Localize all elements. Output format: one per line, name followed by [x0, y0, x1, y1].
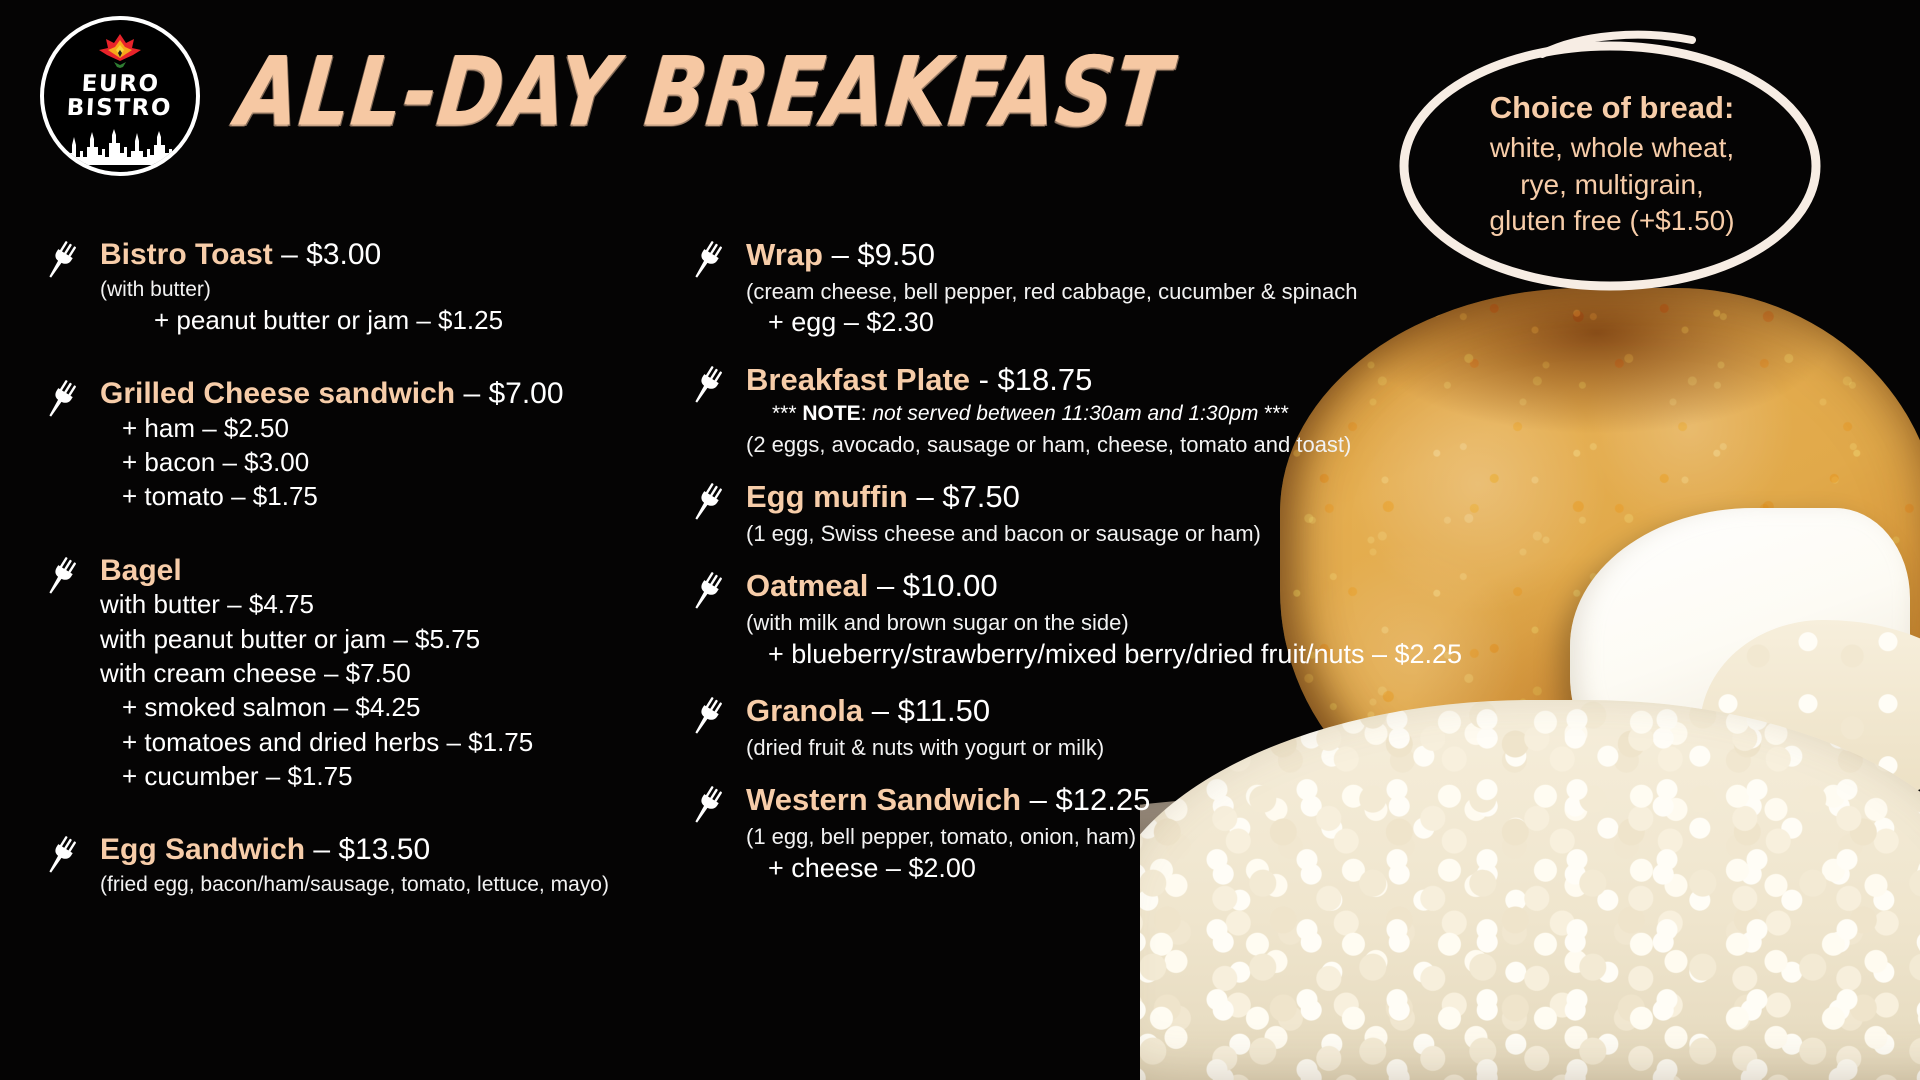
- menu-item-heading: Egg muffin – $7.50: [746, 480, 1440, 515]
- menu-item-price: – $13.50: [305, 833, 430, 866]
- menu-item-price: – $7.00: [455, 377, 563, 410]
- menu-column-left: Bistro Toast – $3.00(with butter)+ peanu…: [34, 238, 714, 904]
- menu-item-name: Egg muffin: [746, 479, 908, 514]
- callout-title: Choice of bread:: [1392, 88, 1832, 128]
- menu-item-name: Bistro Toast: [100, 238, 273, 271]
- menu-item-addon: + blueberry/strawberry/mixed berry/dried…: [746, 637, 1440, 673]
- fork-icon: [688, 365, 728, 414]
- logo-line-2: BISTRO: [43, 96, 196, 120]
- menu-item-name: Breakfast Plate: [746, 362, 979, 397]
- menu-item-addon: with butter – $4.75: [100, 587, 714, 621]
- fork-icon: [688, 482, 728, 531]
- menu-item-price: – $11.50: [863, 693, 990, 728]
- menu-item-addon: with cream cheese – $7.50: [100, 656, 714, 690]
- menu-item-addon: + smoked salmon – $4.25: [100, 690, 714, 724]
- menu-item-description: (2 eggs, avocado, sausage or ham, cheese…: [746, 431, 1440, 459]
- menu-item-addon: + peanut butter or jam – $1.25: [100, 303, 714, 337]
- menu-item-name: Bagel: [100, 554, 182, 587]
- fork-icon: [688, 240, 728, 289]
- menu-item-heading: Breakfast Plate - $18.75: [746, 363, 1440, 398]
- menu-item-name: Egg Sandwich: [100, 833, 305, 866]
- menu-item-heading: Egg Sandwich – $13.50: [100, 833, 714, 867]
- menu-board: EURO BISTRO ALL-DAY BREAKFAST Choice of …: [0, 0, 1920, 1080]
- menu-item-name: Oatmeal: [746, 568, 868, 603]
- fork-icon: [688, 696, 728, 740]
- menu-item-addon: with peanut butter or jam – $5.75: [100, 622, 714, 656]
- fork-icon: [42, 240, 82, 289]
- menu-item-addon: + egg – $2.30: [746, 305, 1440, 341]
- menu-item-addon: + tomato – $1.75: [100, 479, 714, 513]
- logo-line-1: EURO: [44, 72, 197, 96]
- menu-column-right: Wrap – $9.50(cream cheese, bell pepper, …: [680, 238, 1440, 892]
- fork-icon: [688, 240, 728, 284]
- menu-item-addon: + tomatoes and dried herbs – $1.75: [100, 725, 714, 759]
- menu-item-name: Grilled Cheese sandwich: [100, 377, 455, 410]
- callout-line: white, whole wheat,: [1392, 130, 1832, 166]
- menu-item: Wrap – $9.50(cream cheese, bell pepper, …: [680, 238, 1440, 341]
- menu-item-addon: + bacon – $3.00: [100, 445, 714, 479]
- logo-wordmark: EURO BISTRO: [43, 72, 198, 121]
- fork-icon: [688, 571, 728, 615]
- menu-item-name: Granola: [746, 693, 863, 728]
- menu-item-addon: + cheese – $2.00: [746, 851, 1440, 887]
- fork-icon: [688, 785, 728, 829]
- menu-item: Egg Sandwich – $13.50(fried egg, bacon/h…: [34, 833, 714, 898]
- menu-item-price: – $12.25: [1021, 782, 1150, 817]
- fork-icon: [42, 835, 82, 884]
- menu-item: Granola – $11.50(dried fruit & nuts with…: [680, 694, 1440, 761]
- menu-item-heading: Granola – $11.50: [746, 694, 1440, 729]
- menu-item: Oatmeal – $10.00(with milk and brown sug…: [680, 569, 1440, 672]
- fork-icon: [688, 696, 728, 745]
- fork-icon: [688, 571, 728, 620]
- menu-item-description: (1 egg, Swiss cheese and bacon or sausag…: [746, 520, 1440, 548]
- menu-item-heading: Bagel: [100, 554, 714, 588]
- menu-item-name: Wrap: [746, 237, 823, 272]
- fork-icon: [42, 835, 82, 879]
- fork-icon: [42, 556, 82, 605]
- menu-item-description: (cream cheese, bell pepper, red cabbage,…: [746, 278, 1440, 306]
- fork-icon: [688, 785, 728, 834]
- fork-icon: [42, 240, 82, 284]
- fork-icon: [42, 379, 82, 428]
- page-title: ALL-DAY BREAKFAST: [232, 38, 1176, 148]
- menu-item-heading: Bistro Toast – $3.00: [100, 238, 714, 272]
- fork-icon: [688, 365, 728, 409]
- menu-item-name: Western Sandwich: [746, 782, 1021, 817]
- menu-item-description: (dried fruit & nuts with yogurt or milk): [746, 734, 1440, 762]
- menu-item-price: – $3.00: [273, 238, 381, 271]
- menu-item-price: - $18.75: [979, 362, 1093, 397]
- callout-line: rye, multigrain,: [1392, 167, 1832, 203]
- menu-item-description: (with milk and brown sugar on the side): [746, 609, 1440, 637]
- menu-item-price: – $9.50: [823, 237, 935, 272]
- fork-icon: [42, 556, 82, 600]
- menu-item-description: (1 egg, bell pepper, tomato, onion, ham): [746, 823, 1440, 851]
- callout-line: gluten free (+$1.50): [1392, 203, 1832, 239]
- menu-item: Bagelwith butter – $4.75with peanut butt…: [34, 554, 714, 793]
- menu-item-note: *** NOTE: not served between 11:30am and…: [746, 402, 1440, 426]
- fork-icon: [42, 379, 82, 423]
- menu-item-heading: Oatmeal – $10.00: [746, 569, 1440, 604]
- city-skyline-icon: [51, 127, 189, 170]
- menu-item: Grilled Cheese sandwich – $7.00+ ham – $…: [34, 377, 714, 514]
- menu-item: Breakfast Plate - $18.75*** NOTE: not se…: [680, 363, 1440, 458]
- choice-of-bread-callout: Choice of bread: white, whole wheat, rye…: [1392, 20, 1832, 300]
- menu-item-description: (with butter): [100, 277, 714, 303]
- menu-item: Bistro Toast – $3.00(with butter)+ peanu…: [34, 238, 714, 337]
- menu-item-heading: Western Sandwich – $12.25: [746, 783, 1440, 818]
- menu-item-heading: Grilled Cheese sandwich – $7.00: [100, 377, 714, 411]
- fork-icon: [688, 482, 728, 526]
- menu-item-addon: + cucumber – $1.75: [100, 759, 714, 793]
- menu-item: Egg muffin – $7.50(1 egg, Swiss cheese a…: [680, 480, 1440, 547]
- menu-item-heading: Wrap – $9.50: [746, 238, 1440, 273]
- menu-item: Western Sandwich – $12.25(1 egg, bell pe…: [680, 783, 1440, 886]
- menu-item-description: (fried egg, bacon/ham/sausage, tomato, l…: [100, 872, 714, 898]
- euro-bistro-logo: EURO BISTRO: [40, 16, 200, 176]
- menu-item-price: – $7.50: [908, 479, 1020, 514]
- menu-item-addon: + ham – $2.50: [100, 411, 714, 445]
- menu-item-price: – $10.00: [868, 568, 997, 603]
